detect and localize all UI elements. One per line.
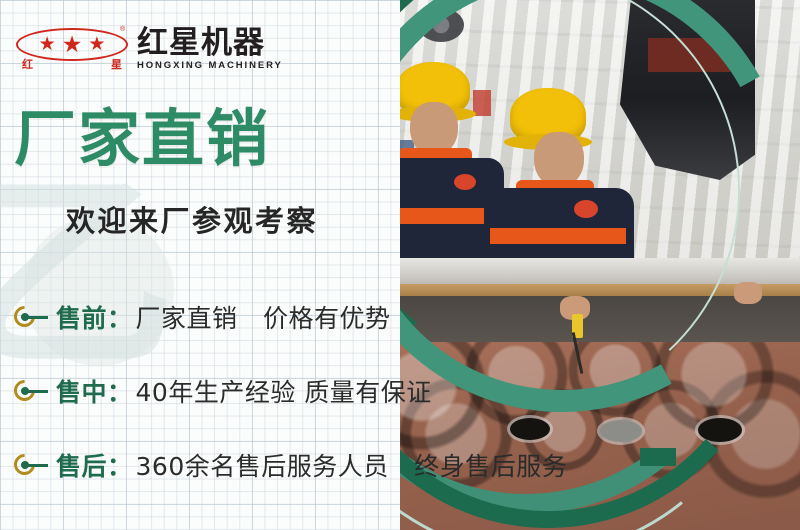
logo-subchars: 红 星 bbox=[22, 56, 122, 72]
bullet-line-icon bbox=[28, 464, 48, 467]
logo-name-en: HONGXING MACHINERY bbox=[137, 60, 283, 71]
list-item-text: 厂家直销 价格有优势 bbox=[136, 299, 391, 335]
list-item: 售前： 厂家直销 价格有优势 bbox=[14, 296, 634, 338]
logo-mark-icon: ★ ★ ★ ® 红 星 bbox=[16, 26, 128, 72]
bullet-line-icon bbox=[28, 316, 48, 319]
list-item-text: 360余名售后服务人员 终身售后服务 bbox=[136, 447, 568, 483]
list-item: 售中： 40年生产经验 质量有保证 bbox=[14, 370, 634, 412]
decor-ring-nub-dark bbox=[640, 448, 676, 466]
headline-sub: 欢迎来厂参观考察 bbox=[66, 203, 318, 239]
list-item-label: 售后： bbox=[56, 447, 133, 483]
star-icon: ★ bbox=[39, 35, 56, 54]
logo-wordmark: 红星机器 HONGXING MACHINERY bbox=[137, 27, 283, 71]
arc-dot-bullet-icon bbox=[14, 306, 52, 328]
arc-dot-bullet-icon bbox=[14, 454, 52, 476]
company-logo[interactable]: ★ ★ ★ ® 红 星 红星机器 HONGXING MACHINERY bbox=[16, 26, 283, 72]
headline-main: 厂家直销 bbox=[14, 104, 270, 174]
arc-dot-bullet-icon bbox=[14, 380, 52, 402]
promo-banner: 乙 ★ ★ ★ ® 红 星 红星机器 HONGXING MACHINERY bbox=[0, 0, 800, 530]
benefits-list: 售前： 厂家直销 价格有优势 售中： 40年生产经验 质量有保证 售后： 360… bbox=[14, 296, 634, 518]
logo-char-xing: 星 bbox=[111, 56, 122, 72]
star-icon: ★ bbox=[62, 33, 83, 56]
logo-char-hong: 红 bbox=[22, 56, 33, 72]
list-item-text: 40年生产经验 质量有保证 bbox=[136, 373, 432, 409]
list-item-label: 售中： bbox=[56, 373, 133, 409]
star-icon: ★ bbox=[88, 35, 105, 54]
list-item-label: 售前： bbox=[56, 299, 133, 335]
bullet-dot-icon bbox=[21, 461, 29, 469]
bullet-dot-icon bbox=[21, 313, 29, 321]
bullet-dot-icon bbox=[21, 387, 29, 395]
bullet-line-icon bbox=[28, 390, 48, 393]
registered-icon: ® bbox=[120, 26, 125, 33]
list-item: 售后： 360余名售后服务人员 终身售后服务 bbox=[14, 444, 634, 486]
logo-name-cn: 红星机器 bbox=[137, 27, 283, 59]
